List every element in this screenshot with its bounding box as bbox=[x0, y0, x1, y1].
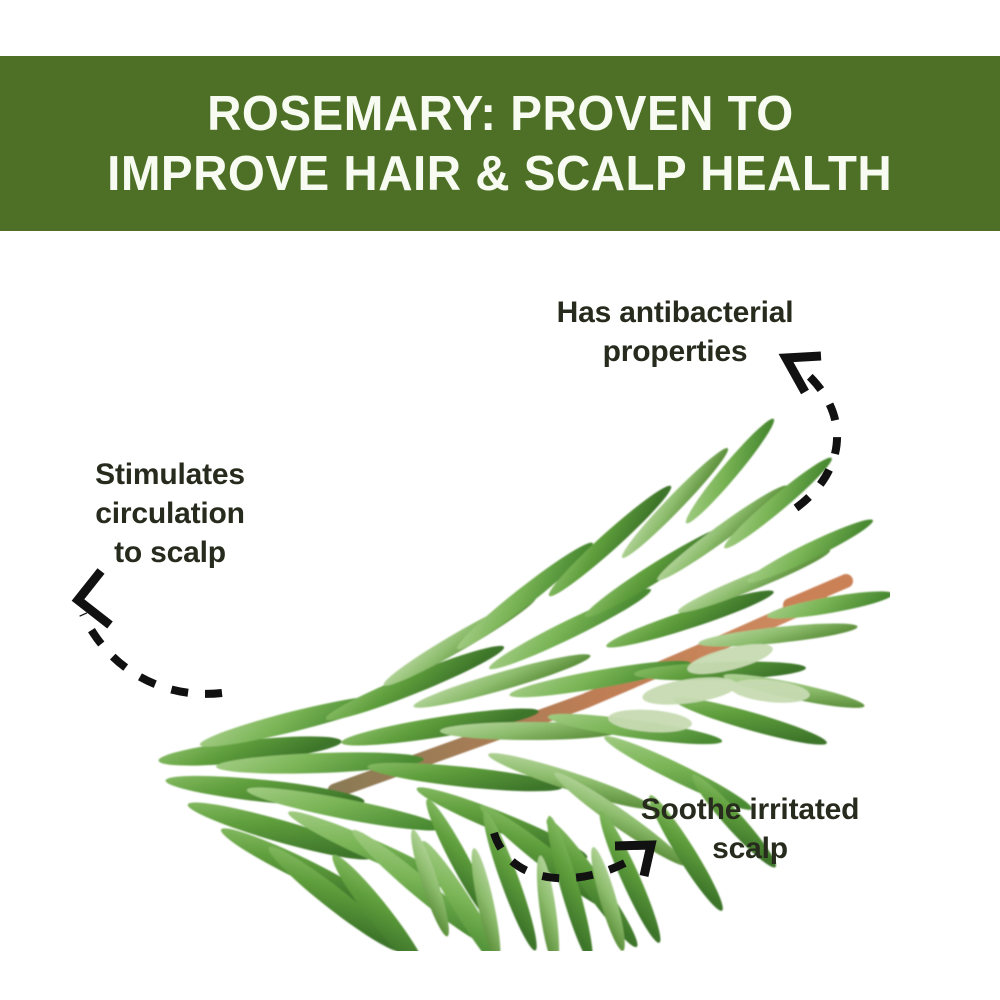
header-title-line-2: IMPROVE HAIR & SCALP HEALTH bbox=[107, 144, 892, 204]
callout-label-antibacterial: Has antibacterial properties bbox=[480, 293, 870, 371]
callout-label-soothe: Soothe irritated scalp bbox=[580, 790, 920, 868]
header-title-line-1: ROSEMARY: PROVEN TO bbox=[207, 84, 794, 144]
infographic-canvas: ROSEMARY: PROVEN TO IMPROVE HAIR & SCALP… bbox=[0, 0, 1000, 1000]
header-banner: ROSEMARY: PROVEN TO IMPROVE HAIR & SCALP… bbox=[0, 56, 1000, 231]
callout-label-stimulates: Stimulates circulation to scalp bbox=[40, 455, 300, 572]
